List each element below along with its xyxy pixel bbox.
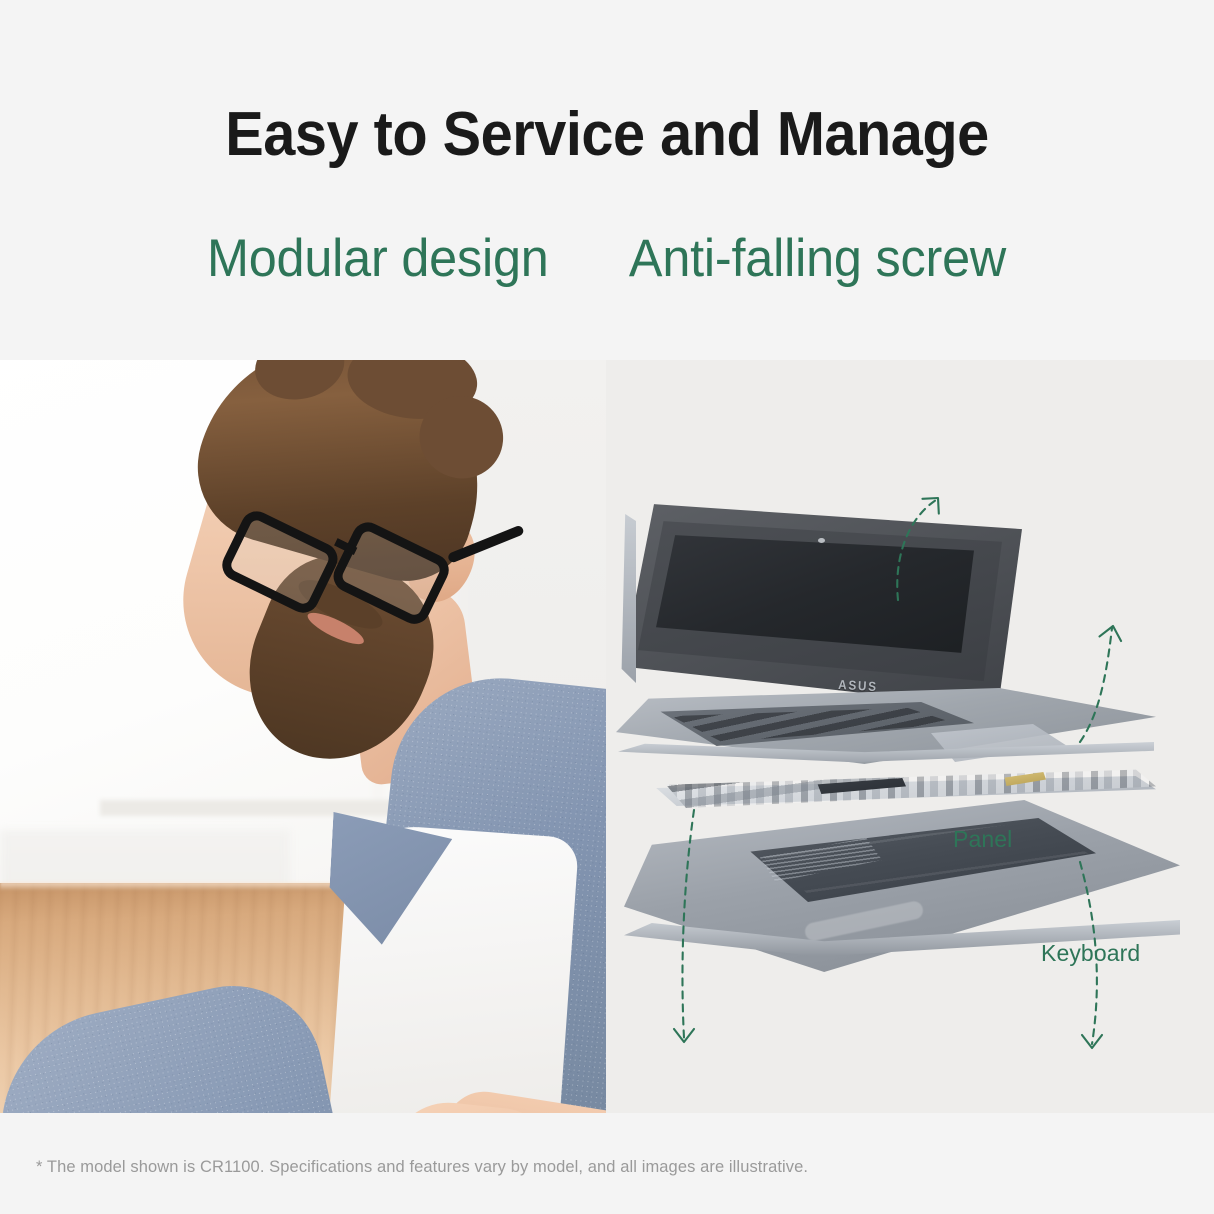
- callout-arrows: [606, 360, 1214, 1113]
- person-shoulder-left: [0, 969, 371, 1113]
- footnote-disclaimer: * The model shown is CR1100. Specificati…: [36, 1157, 808, 1177]
- subtitle-modular-design: Modular design: [207, 232, 549, 285]
- callout-label-keyboard: Keyboard: [1041, 940, 1140, 967]
- header-section: Easy to Service and Manage Modular desig…: [0, 0, 1214, 360]
- motherboard-leader-line: [682, 810, 694, 1038]
- footer-section: * The model shown is CR1100. Specificati…: [0, 1113, 1214, 1214]
- eyeglass-lens-right: [328, 517, 454, 629]
- page-title: Easy to Service and Manage: [42, 104, 1171, 166]
- shirt-texture-left: [0, 969, 371, 1113]
- subtitle-row: Modular design Anti-falling screw: [0, 232, 1214, 285]
- keyboard-leader-line: [1080, 628, 1112, 742]
- callout-label-panel: Panel: [953, 826, 1012, 853]
- photo-person: [0, 360, 606, 1113]
- subtitle-anti-falling-screw: Anti-falling screw: [629, 232, 1006, 285]
- panel-leader-line: [897, 500, 936, 600]
- hair-tuft: [249, 360, 351, 408]
- diagram-exploded-laptop: ASUS: [606, 360, 1214, 1113]
- media-band: ASUS: [0, 360, 1214, 1113]
- photo-technician-servicing-laptop: [0, 360, 606, 1113]
